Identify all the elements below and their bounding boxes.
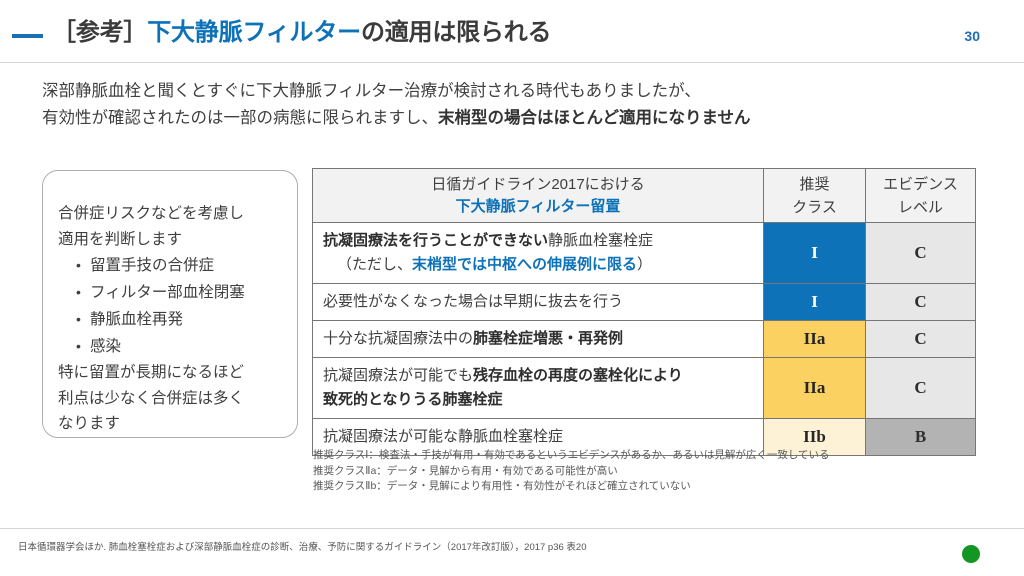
table-row: 必要性がなくなった場合は早期に抜去を行う I C	[313, 284, 976, 321]
indication-bold-1: 抗凝固療法を行うことができない	[323, 232, 548, 249]
note-outro-line-1: 特に留置が長期になるほど	[58, 360, 288, 386]
source-citation: 日本循環器学会ほか. 肺血栓塞栓症および深部静脈血栓症の診断、治療、予防に関する…	[18, 541, 587, 555]
cell-recommendation-class: IIa	[764, 321, 866, 358]
footnote-class-2a: 推奨クラスⅡa：データ・見解から有用・有効である可能性が高い	[313, 464, 993, 480]
indication-bold-4-line2: 致死的となりうる肺塞栓症	[323, 388, 755, 412]
list-item: 静脈血栓再発	[76, 306, 288, 333]
list-item: 留置手技の合併症	[76, 252, 288, 279]
cell-recommendation-class: I	[764, 223, 866, 284]
note-intro-line-1: 合併症リスクなどを考慮し	[58, 201, 288, 227]
lead-line-2-plain: 有効性が確認されたのは一部の病態に限られますし、	[42, 109, 438, 127]
subnote-close: ）	[637, 256, 652, 273]
considerations-note-content: 合併症リスクなどを考慮し 適用を判断します 留置手技の合併症 フィルター部血栓閉…	[58, 201, 288, 437]
page-title-prefix: ［参考］	[52, 19, 147, 46]
indication-subnote-1: （ただし、末梢型では中枢への伸展例に限る）	[323, 253, 755, 277]
column-header-indication-line2: 下大静脈フィルター留置	[317, 196, 759, 218]
lead-line-2: 有効性が確認されたのは一部の病態に限られますし、末梢型の場合はほとんど適用になり…	[42, 105, 992, 132]
table-header-row: 日循ガイドライン2017における 下大静脈フィルター留置 推奨 クラス エビデン…	[313, 169, 976, 223]
cell-indication: 抗凝固療法が可能でも残存血栓の再度の塞栓化により致死的となりうる肺塞栓症	[313, 358, 764, 419]
considerations-note-box: 合併症リスクなどを考慮し 適用を判断します 留置手技の合併症 フィルター部血栓閉…	[42, 170, 298, 438]
indication-plain-2: 必要性がなくなった場合は早期に抜去を行う	[323, 293, 623, 310]
column-header-indication: 日循ガイドライン2017における 下大静脈フィルター留置	[313, 169, 764, 223]
brand-dot-logo	[962, 545, 980, 563]
indication-plain-3: 十分な抗凝固療法中の	[323, 330, 473, 347]
footnote-class-1: 推奨クラスⅠ：検査法・手技が有用・有効であるというエビデンスがあるか、あるいは見…	[313, 448, 993, 464]
indication-bold-3: 肺塞栓症増悪・再発例	[473, 330, 623, 347]
subnote-accent: 末梢型では中枢への伸展例に限る	[412, 256, 637, 273]
page-title: ［参考］下大静脈フィルターの適用は限られる	[52, 18, 551, 48]
header-divider	[0, 62, 1024, 63]
footer-divider	[0, 528, 1024, 529]
lead-paragraph: 深部静脈血栓と聞くとすぐに下大静脈フィルター治療が検討される時代もありましたが、…	[42, 78, 992, 132]
cell-evidence-level: C	[866, 223, 976, 284]
lead-line-2-emphasis: 末梢型の場合はほとんど適用になりません	[438, 109, 751, 127]
cell-recommendation-class: I	[764, 284, 866, 321]
cell-evidence-level: C	[866, 321, 976, 358]
note-bullet-list: 留置手技の合併症 フィルター部血栓閉塞 静脈血栓再発 感染	[58, 252, 288, 360]
column-header-class-line1: 推奨	[768, 173, 861, 196]
title-accent-dash	[12, 34, 43, 38]
cell-indication: 必要性がなくなった場合は早期に抜去を行う	[313, 284, 764, 321]
list-item: 感染	[76, 333, 288, 360]
table-row: 抗凝固療法が可能でも残存血栓の再度の塞栓化により致死的となりうる肺塞栓症 IIa…	[313, 358, 976, 419]
cell-evidence-level: C	[866, 284, 976, 321]
guideline-recommendations-table: 日循ガイドライン2017における 下大静脈フィルター留置 推奨 クラス エビデン…	[312, 168, 976, 456]
indication-plain-1: 静脈血栓塞栓症	[548, 232, 653, 249]
column-header-recommendation-class: 推奨 クラス	[764, 169, 866, 223]
page-title-suffix: の適用は限られる	[361, 19, 551, 46]
column-header-evidence-line2: レベル	[870, 196, 971, 219]
note-outro-line-2: 利点は少なく合併症は多く	[58, 386, 288, 412]
indication-plain-4: 抗凝固療法が可能でも	[323, 367, 473, 384]
column-header-class-line2: クラス	[768, 196, 861, 219]
cell-recommendation-class: IIa	[764, 358, 866, 419]
lead-line-1: 深部静脈血栓と聞くとすぐに下大静脈フィルター治療が検討される時代もありましたが、	[42, 78, 992, 105]
note-outro-line-3: なります	[58, 411, 288, 437]
column-header-evidence-level: エビデンス レベル	[866, 169, 976, 223]
column-header-evidence-line1: エビデンス	[870, 173, 971, 196]
cell-indication: 抗凝固療法を行うことができない静脈血栓塞栓症 （ただし、末梢型では中枢への伸展例…	[313, 223, 764, 284]
indication-bold-4: 残存血栓の再度の塞栓化により	[473, 367, 683, 384]
slide-header: ［参考］下大静脈フィルターの適用は限られる 30	[0, 0, 1024, 62]
table-footnotes: 推奨クラスⅠ：検査法・手技が有用・有効であるというエビデンスがあるか、あるいは見…	[313, 448, 993, 495]
cell-indication: 十分な抗凝固療法中の肺塞栓症増悪・再発例	[313, 321, 764, 358]
footnote-class-2b: 推奨クラスⅡb：データ・見解により有用性・有効性がそれほど確立されていない	[313, 479, 993, 495]
column-header-indication-line1: 日循ガイドライン2017における	[317, 173, 759, 196]
page-title-accent: 下大静脈フィルター	[147, 19, 361, 46]
table-row: 抗凝固療法を行うことができない静脈血栓塞栓症 （ただし、末梢型では中枢への伸展例…	[313, 223, 976, 284]
subnote-open: （ただし、	[337, 256, 412, 273]
list-item: フィルター部血栓閉塞	[76, 279, 288, 306]
page-number: 30	[964, 28, 980, 44]
indication-plain-5: 抗凝固療法が可能な静脈血栓塞栓症	[323, 428, 563, 445]
table-row: 十分な抗凝固療法中の肺塞栓症増悪・再発例 IIa C	[313, 321, 976, 358]
note-intro-line-2: 適用を判断します	[58, 227, 288, 253]
cell-evidence-level: C	[866, 358, 976, 419]
